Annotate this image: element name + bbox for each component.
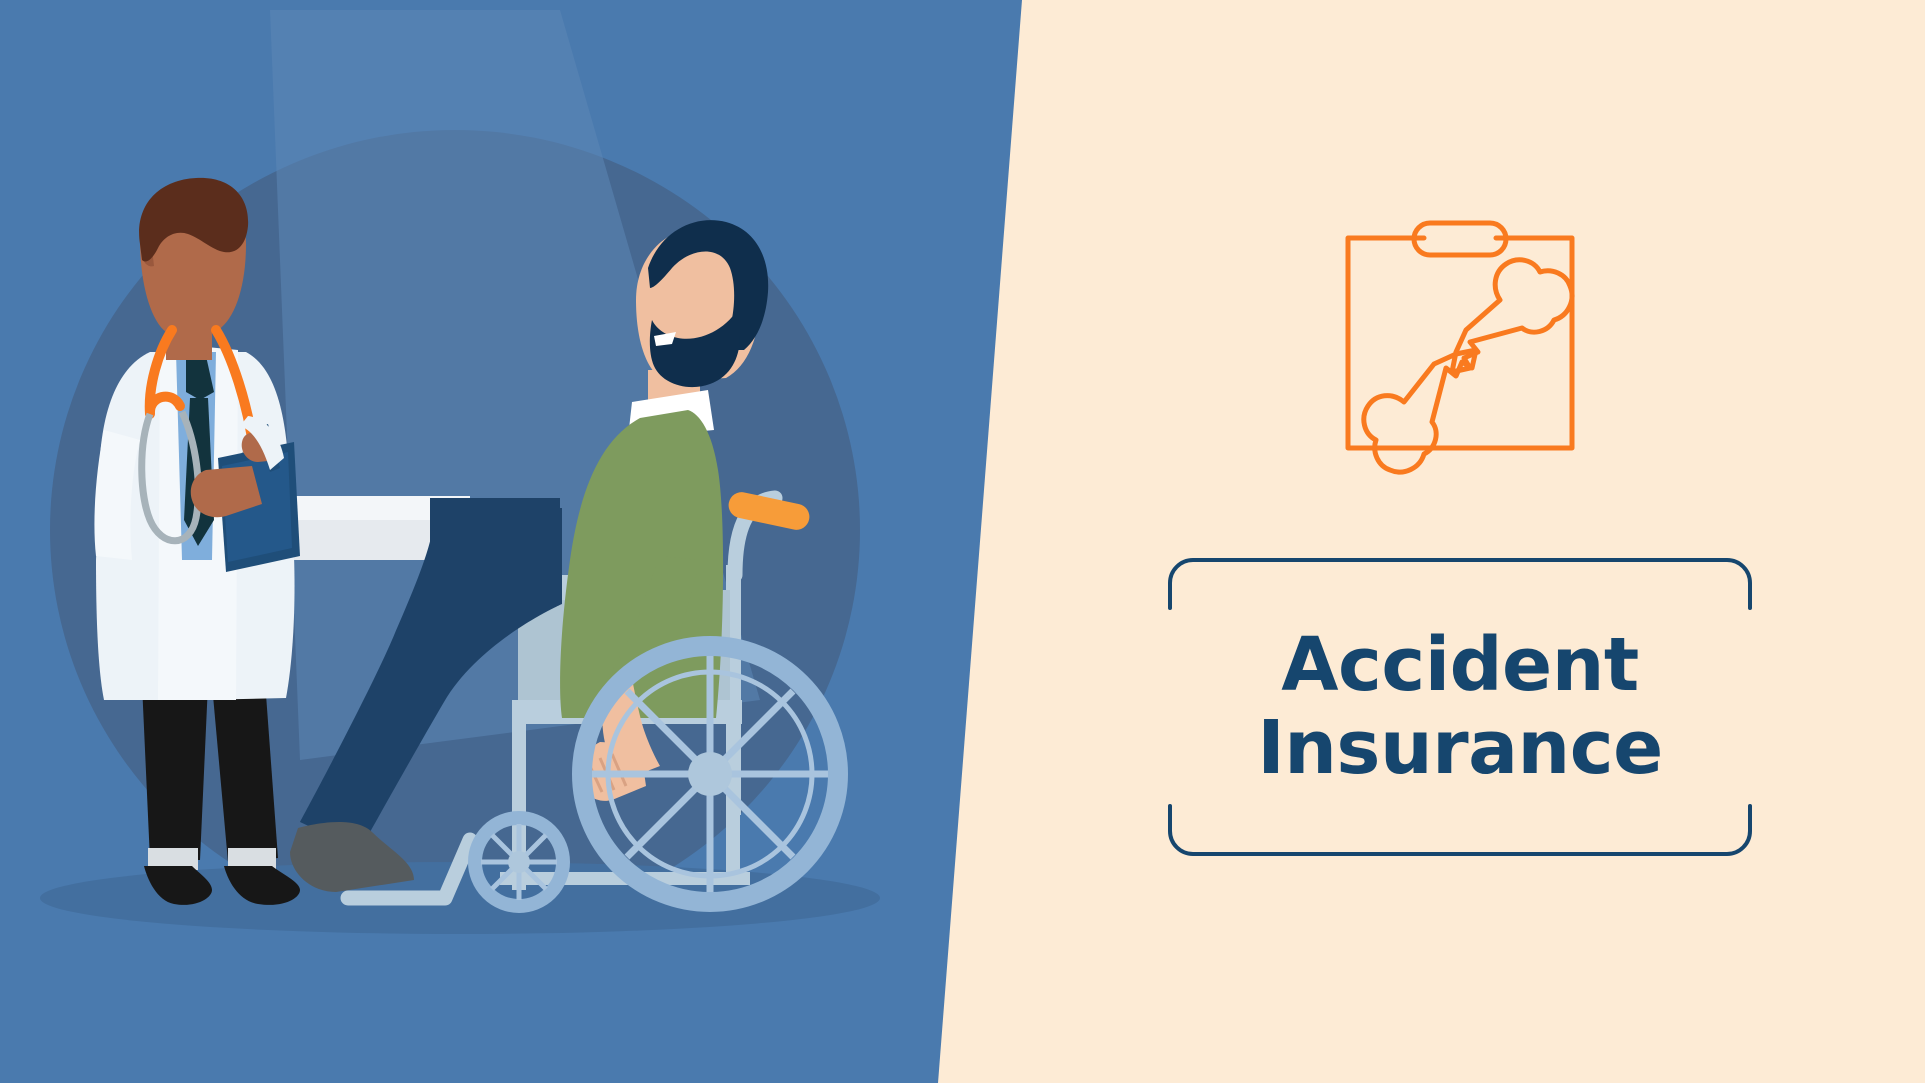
title-panel: [0, 0, 1925, 1083]
clipboard-clip: [1414, 223, 1506, 255]
frame-bottom-bracket: [1170, 806, 1750, 854]
broken-bone-lower: [1364, 350, 1476, 472]
clipboard-broken-bone-icon[interactable]: [1348, 223, 1572, 472]
broken-bone-upper: [1452, 260, 1572, 372]
frame-top-bracket: [1170, 560, 1750, 608]
bracket-frame: [1170, 560, 1750, 854]
slide-canvas: Accident Insurance: [0, 0, 1925, 1083]
